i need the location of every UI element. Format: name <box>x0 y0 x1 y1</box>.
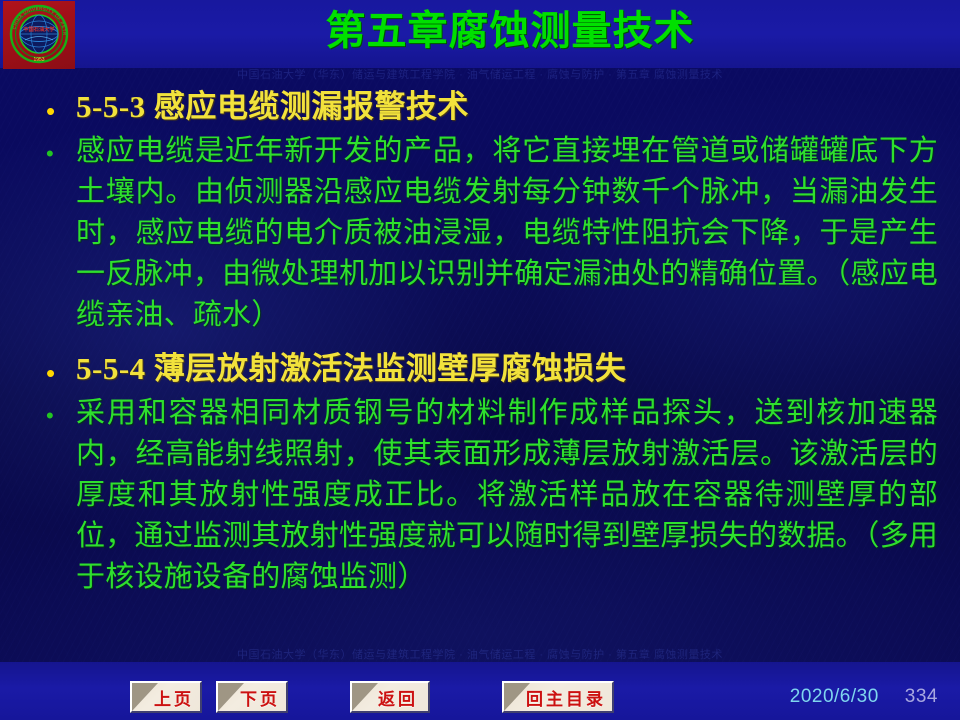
return-button[interactable]: 返回 <box>350 681 430 713</box>
body-bullet-icon: • <box>46 393 76 427</box>
body-text-5-5-3: 感应电缆是近年新开发的产品，将它直接埋在管道或储罐罐底下方土壤内。由侦测器沿感应… <box>76 131 938 336</box>
next-page-button[interactable]: 下页 <box>216 681 288 713</box>
section-heading-5-5-4: • 5-5-4 薄层放射激活法监测壁厚腐蚀损失 <box>46 348 938 390</box>
section-heading-5-5-3: • 5-5-3 感应电缆测漏报警技术 <box>46 86 938 128</box>
slide-date: 2020/6/30 <box>790 686 879 708</box>
section-body-5-5-3: • 感应电缆是近年新开发的产品，将它直接埋在管道或储罐罐底下方土壤内。由侦测器沿… <box>46 131 938 336</box>
footer-meta: 2020/6/30 334 <box>790 686 938 708</box>
heading-bullet-icon: • <box>46 86 76 124</box>
main-menu-button[interactable]: 回主目录 <box>502 681 614 713</box>
navigation-buttons: 上页 下页 返回 回主目录 <box>130 681 614 713</box>
heading-bullet-icon: • <box>46 348 76 386</box>
return-button-label: 返回 <box>362 685 418 710</box>
next-page-button-label: 下页 <box>224 685 280 710</box>
slide: 中国石油大学（华东）储运与建筑工程学院 · 油气储运工程 · 腐蚀与防护 · 第… <box>0 0 960 720</box>
university-logo: 中国石油大学 1953 CHINA UNIVERSITY OF PETROLEU… <box>3 1 75 69</box>
page-title: 第五章腐蚀测量技术 <box>90 6 930 56</box>
main-menu-button-label: 回主目录 <box>510 685 606 710</box>
body-bullet-icon: • <box>46 131 76 165</box>
section-body-5-5-4: • 采用和容器相同材质钢号的材料制作成样品探头，送到核加速器内，经高能射线照射，… <box>46 393 938 598</box>
prev-page-button[interactable]: 上页 <box>130 681 202 713</box>
svg-text:中国石油大学: 中国石油大学 <box>23 25 54 33</box>
svg-text:1953: 1953 <box>33 57 44 63</box>
slide-page-number: 334 <box>905 686 938 708</box>
slide-content: • 5-5-3 感应电缆测漏报警技术 • 感应电缆是近年新开发的产品，将它直接埋… <box>0 82 960 660</box>
prev-page-button-label: 上页 <box>138 685 194 710</box>
university-emblem-icon: 中国石油大学 1953 CHINA UNIVERSITY OF PETROLEU… <box>7 4 71 66</box>
heading-text-5-5-3: 5-5-3 感应电缆测漏报警技术 <box>76 86 469 128</box>
watermark-top: 中国石油大学（华东）储运与建筑工程学院 · 油气储运工程 · 腐蚀与防护 · 第… <box>0 66 960 82</box>
heading-text-5-5-4: 5-5-4 薄层放射激活法监测壁厚腐蚀损失 <box>76 348 626 390</box>
body-text-5-5-4: 采用和容器相同材质钢号的材料制作成样品探头，送到核加速器内，经高能射线照射，使其… <box>76 393 938 598</box>
